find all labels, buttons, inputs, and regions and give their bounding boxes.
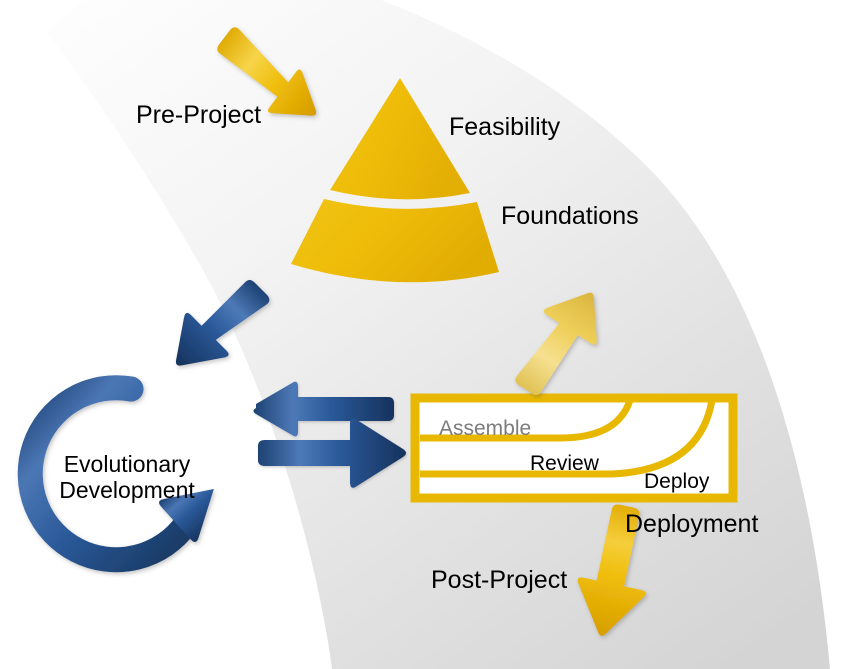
- label-evolutionary-line1: Evolutionary: [64, 451, 191, 477]
- diagram-canvas: Feasibility Foundations Pre-Project: [0, 0, 856, 669]
- label-evolutionary-development: Evolutionary Development: [59, 451, 195, 503]
- label-evolutionary-line2: Development: [59, 477, 195, 503]
- label-feasibility: Feasibility: [449, 113, 561, 141]
- label-pre-project: Pre-Project: [136, 101, 261, 129]
- label-deployment: Deployment: [625, 510, 758, 538]
- dsdm-process-diagram: Feasibility Foundations Pre-Project: [0, 0, 856, 669]
- deployment-label-assemble: Assemble: [439, 417, 531, 440]
- deployment-label-review: Review: [530, 452, 600, 475]
- label-post-project: Post-Project: [431, 566, 567, 594]
- foundations-wedge: [291, 199, 499, 282]
- deployment-label-deploy: Deploy: [644, 470, 710, 493]
- label-foundations: Foundations: [501, 202, 639, 230]
